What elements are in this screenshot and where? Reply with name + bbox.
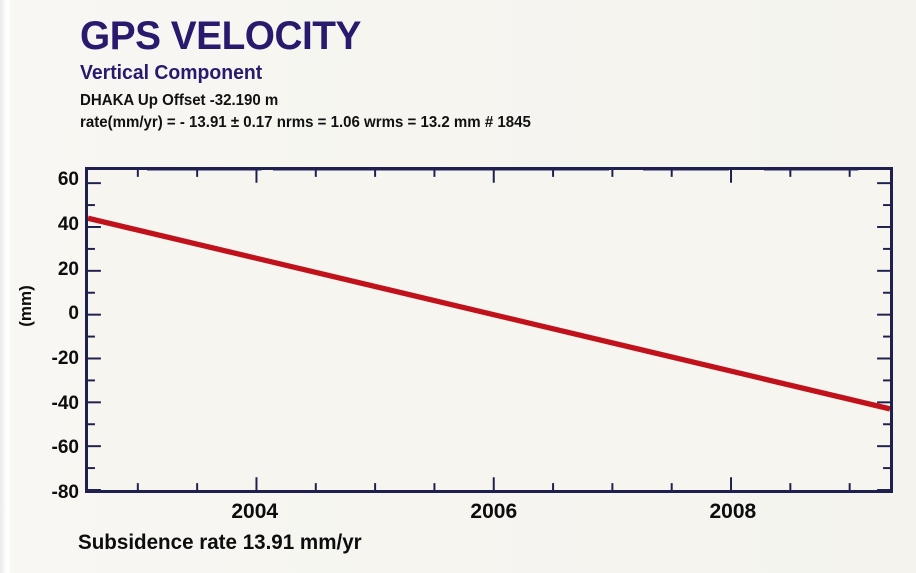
- plot-canvas: [88, 170, 890, 490]
- x-tick-label: 2004: [231, 500, 278, 524]
- axis-ticks: [88, 170, 890, 490]
- plot-frame: [85, 167, 893, 493]
- y-tick-label: 0: [68, 304, 79, 323]
- x-tick-label: 2008: [709, 500, 756, 524]
- page-title: GPS VELOCITY: [80, 14, 817, 58]
- page-subtitle: Vertical Component: [80, 60, 817, 86]
- subsidence-rate-note: Subsidence rate 13.91 mm/yr: [78, 531, 362, 555]
- trend-line: [88, 218, 890, 409]
- y-tick-label: -60: [52, 438, 79, 457]
- y-tick-label: -80: [52, 483, 79, 502]
- y-tick-label: 40: [58, 215, 79, 234]
- y-tick-label: -20: [52, 349, 79, 368]
- y-axis-title: (mm): [16, 271, 36, 341]
- rate-statistics-text: rate(mm/yr) = - 13.91 ± 0.17 nrms = 1.06…: [80, 112, 817, 133]
- x-tick-label: 2006: [470, 500, 517, 524]
- y-tick-label: 60: [58, 170, 79, 189]
- x-axis-tick-labels: 200420062008: [85, 500, 893, 526]
- station-offset-text: DHAKA Up Offset -32.190 m: [80, 90, 817, 111]
- title-block: GPS VELOCITY Vertical Component DHAKA Up…: [80, 14, 840, 133]
- page-left-edge: [0, 0, 9, 573]
- y-tick-label: 20: [58, 260, 79, 279]
- gps-velocity-figure: GPS VELOCITY Vertical Component DHAKA Up…: [0, 0, 916, 573]
- y-tick-label: -40: [52, 394, 79, 413]
